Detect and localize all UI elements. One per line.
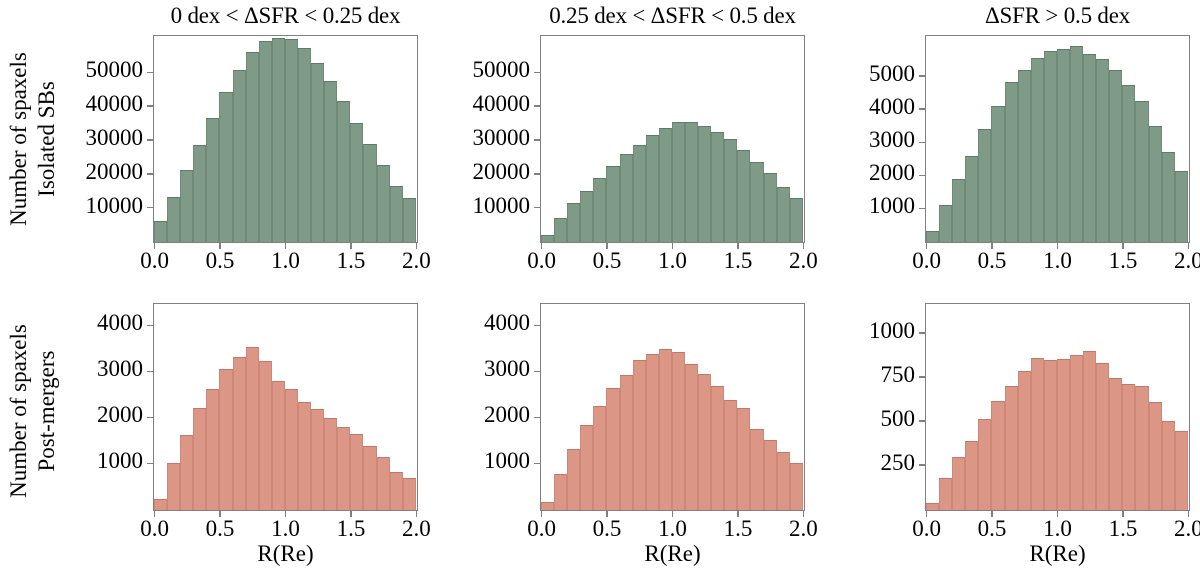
xtick-label: 0.0: [512, 516, 572, 542]
ytick-mark: [534, 72, 540, 74]
histogram-bar: [350, 123, 363, 242]
xtick-label: 0.0: [897, 516, 957, 542]
xtick-label: 1.0: [643, 248, 703, 274]
histogram-bar: [991, 401, 1004, 510]
xlabel-col3: R(Re): [925, 541, 1190, 567]
histogram-bar: [1031, 58, 1044, 242]
histogram-bar: [646, 354, 659, 510]
histogram-bar: [377, 457, 390, 510]
ytick-mark: [534, 417, 540, 419]
ytick-mark: [147, 371, 153, 373]
histogram-bar: [1044, 51, 1057, 242]
histogram-bar: [1149, 126, 1162, 242]
histogram-bar: [750, 162, 763, 242]
ytick-label: 30000: [11, 125, 143, 151]
xtick-label: 1.5: [1093, 516, 1153, 542]
histogram-bar: [685, 364, 698, 510]
ytick-label: 1000: [783, 318, 915, 344]
histogram-bars-isolated-sbs-bin1: [154, 36, 417, 242]
xtick-label: 1.0: [256, 516, 316, 542]
panel-title-col1: 0 dex < ΔSFR < 0.25 dex: [153, 3, 418, 29]
histogram-bar: [1070, 46, 1083, 242]
ytick-label: 10000: [398, 193, 530, 219]
histogram-bar: [1018, 70, 1031, 242]
histogram-bar: [606, 388, 619, 510]
histogram-bar: [1149, 402, 1162, 510]
histogram-bar: [978, 129, 991, 242]
ytick-label: 2000: [11, 402, 143, 428]
xtick-label: 2.0: [773, 516, 833, 542]
ytick-label: 20000: [11, 159, 143, 185]
xlabel-col1: R(Re): [153, 541, 418, 567]
histogram-bar: [926, 231, 939, 242]
histogram-bar: [1018, 371, 1031, 510]
ytick-label: 500: [783, 406, 915, 432]
histogram-bar: [580, 191, 593, 242]
histogram-bars-post-mergers-bin1: [154, 304, 417, 510]
histogram-bars-post-mergers-bin2: [541, 304, 804, 510]
histogram-bar: [298, 48, 311, 242]
histogram-bar: [1109, 70, 1122, 242]
histogram-bar: [554, 474, 567, 510]
histogram-bar: [646, 135, 659, 242]
xtick-label: 1.5: [321, 516, 381, 542]
panel-title-col2: 0.25 dex < ΔSFR < 0.5 dex: [540, 3, 805, 29]
histogram-bar: [965, 441, 978, 510]
histogram-bar: [541, 235, 554, 242]
histogram-bar: [567, 449, 580, 510]
ytick-mark: [147, 139, 153, 141]
xtick-label: 0.5: [577, 248, 637, 274]
ytick-mark: [534, 139, 540, 141]
ytick-label: 2000: [783, 160, 915, 186]
xtick-label: 0.0: [512, 248, 572, 274]
ytick-label: 30000: [398, 125, 530, 151]
plot-frame-post-mergers-bin3: [925, 303, 1190, 511]
histogram-bar: [311, 63, 324, 242]
histogram-bar: [403, 478, 416, 510]
histogram-bar: [672, 352, 685, 510]
ytick-mark: [147, 173, 153, 175]
histogram-bar: [324, 418, 337, 510]
ytick-label: 40000: [398, 91, 530, 117]
ytick-label: 50000: [398, 57, 530, 83]
histogram-bar: [1109, 378, 1122, 510]
histogram-bar: [659, 128, 672, 242]
histogram-bar: [1005, 82, 1018, 242]
ytick-mark: [919, 376, 925, 378]
xtick-label: 0.5: [962, 516, 1022, 542]
ytick-label: 5000: [783, 61, 915, 87]
ytick-label: 250: [783, 450, 915, 476]
histogram-bar: [965, 156, 978, 242]
histogram-bar: [952, 457, 965, 510]
histogram-bar: [154, 499, 167, 510]
histogram-bar: [926, 503, 939, 510]
ytick-label: 10000: [11, 193, 143, 219]
plot-frame-isolated-sbs-bin3: [925, 35, 1190, 243]
ytick-label: 1000: [398, 448, 530, 474]
histogram-bar: [246, 52, 259, 242]
histogram-bar: [541, 502, 554, 510]
histogram-bar: [363, 144, 376, 242]
xtick-label: 2.0: [386, 516, 446, 542]
ytick-label: 3000: [783, 127, 915, 153]
ytick-label: 4000: [398, 310, 530, 336]
histogram-bar: [1096, 59, 1109, 242]
histogram-bar: [363, 446, 376, 510]
histogram-bar: [978, 419, 991, 510]
ytick-mark: [147, 105, 153, 107]
ytick-mark: [534, 371, 540, 373]
histogram-bar: [206, 118, 219, 242]
histogram-bar: [939, 205, 952, 242]
xtick-label: 2.0: [386, 248, 446, 274]
ytick-mark: [534, 463, 540, 465]
histogram-bar: [633, 145, 646, 242]
histogram-bar: [991, 106, 1004, 242]
panel-title-col3: ΔSFR > 0.5 dex: [925, 3, 1190, 29]
histogram-bar: [698, 374, 711, 510]
histogram-bar: [1135, 386, 1148, 510]
ytick-mark: [147, 417, 153, 419]
histogram-bar: [193, 408, 206, 510]
ytick-label: 3000: [11, 356, 143, 382]
ytick-mark: [919, 108, 925, 110]
xtick-label: 1.5: [708, 516, 768, 542]
xtick-label: 0.0: [125, 248, 185, 274]
histogram-bar: [1083, 54, 1096, 242]
histogram-bar: [259, 361, 272, 510]
histogram-bar: [1031, 358, 1044, 510]
histogram-bar: [298, 402, 311, 510]
xtick-label: 1.0: [1028, 516, 1088, 542]
ytick-mark: [147, 463, 153, 465]
histogram-bar: [154, 221, 167, 242]
xtick-label: 1.5: [1093, 248, 1153, 274]
histogram-bar: [337, 427, 350, 510]
histogram-bar: [554, 218, 567, 242]
histogram-bar: [219, 369, 232, 510]
histogram-bar: [272, 38, 285, 242]
xtick-label: 0.5: [190, 248, 250, 274]
histogram-bar: [659, 349, 672, 510]
xtick-label: 1.0: [256, 248, 316, 274]
histogram-bars-isolated-sbs-bin3: [926, 36, 1189, 242]
ytick-label: 4000: [783, 94, 915, 120]
histogram-bar: [724, 400, 737, 510]
histogram-bar: [285, 39, 298, 242]
ytick-mark: [919, 420, 925, 422]
histogram-bar: [350, 434, 363, 510]
histogram-bar: [324, 81, 337, 242]
histogram-bar: [206, 389, 219, 510]
histogram-bar: [620, 154, 633, 242]
histogram-bar: [672, 122, 685, 242]
histogram-bar: [180, 170, 193, 242]
histogram-bar: [606, 166, 619, 242]
xtick-label: 0.5: [962, 248, 1022, 274]
histogram-bar: [285, 389, 298, 510]
histogram-bar: [377, 165, 390, 242]
histogram-bar: [272, 381, 285, 510]
plot-frame-post-mergers-bin1: [153, 303, 418, 511]
histogram-bars-isolated-sbs-bin2: [541, 36, 804, 242]
histogram-bar: [311, 409, 324, 510]
ytick-label: 750: [783, 362, 915, 388]
histogram-bar: [1070, 355, 1083, 510]
histogram-bar: [724, 139, 737, 242]
histogram-bar: [1175, 171, 1188, 242]
histogram-bar: [246, 347, 259, 510]
histogram-bar: [685, 122, 698, 242]
ytick-mark: [534, 173, 540, 175]
ytick-label: 3000: [398, 356, 530, 382]
ytick-label: 1000: [783, 193, 915, 219]
histogram-bar: [952, 179, 965, 242]
histogram-bar: [193, 145, 206, 242]
plot-frame-isolated-sbs-bin2: [540, 35, 805, 243]
xtick-label: 1.0: [1028, 248, 1088, 274]
histogram-bar: [593, 178, 606, 242]
ytick-mark: [147, 72, 153, 74]
xtick-label: 2.0: [1158, 516, 1200, 542]
histogram-bar: [764, 173, 777, 242]
ytick-mark: [919, 332, 925, 334]
ytick-mark: [534, 105, 540, 107]
histogram-bar: [233, 70, 246, 242]
histogram-bar: [939, 478, 952, 510]
histogram-bar: [337, 101, 350, 242]
histogram-bar: [750, 429, 763, 510]
ytick-mark: [919, 175, 925, 177]
plot-frame-post-mergers-bin2: [540, 303, 805, 511]
histogram-bar: [737, 408, 750, 510]
ytick-label: 40000: [11, 91, 143, 117]
histogram-bar: [167, 463, 180, 510]
ytick-mark: [534, 207, 540, 209]
ytick-label: 2000: [398, 402, 530, 428]
histogram-bar: [1122, 85, 1135, 242]
xtick-label: 0.5: [577, 516, 637, 542]
histogram-bar: [1096, 363, 1109, 510]
histogram-bar: [1057, 359, 1070, 510]
xtick-label: 1.0: [643, 516, 703, 542]
xlabel-col2: R(Re): [540, 541, 805, 567]
figure-root: 0 dex < ΔSFR < 0.25 dex 0.25 dex < ΔSFR …: [0, 0, 1200, 580]
ytick-mark: [534, 325, 540, 327]
histogram-bar: [180, 435, 193, 510]
histogram-bar: [711, 132, 724, 243]
ytick-label: 4000: [11, 310, 143, 336]
histogram-bar: [167, 197, 180, 242]
xtick-label: 0.0: [897, 248, 957, 274]
ytick-mark: [919, 75, 925, 77]
histogram-bar: [1044, 360, 1057, 510]
histogram-bar: [1175, 431, 1188, 510]
xtick-label: 2.0: [773, 248, 833, 274]
histogram-bar: [1162, 152, 1175, 243]
xtick-label: 1.5: [321, 248, 381, 274]
histogram-bar: [233, 357, 246, 510]
histogram-bar: [1122, 384, 1135, 510]
xtick-label: 0.5: [190, 516, 250, 542]
histogram-bar: [1162, 421, 1175, 510]
ytick-label: 1000: [11, 448, 143, 474]
histogram-bar: [1135, 101, 1148, 242]
histogram-bar: [633, 360, 646, 510]
ytick-label: 50000: [11, 57, 143, 83]
histogram-bars-post-mergers-bin3: [926, 304, 1189, 510]
histogram-bar: [1083, 351, 1096, 510]
ytick-mark: [147, 325, 153, 327]
histogram-bar: [1057, 49, 1070, 242]
histogram-bar: [737, 150, 750, 242]
histogram-bar: [390, 472, 403, 510]
histogram-bar: [580, 425, 593, 510]
xtick-label: 0.0: [125, 516, 185, 542]
histogram-bar: [620, 375, 633, 510]
histogram-bar: [219, 92, 232, 242]
histogram-bar: [567, 203, 580, 242]
ytick-mark: [919, 142, 925, 144]
ytick-mark: [147, 207, 153, 209]
histogram-bar: [698, 126, 711, 242]
histogram-bar: [259, 41, 272, 242]
histogram-bar: [764, 440, 777, 510]
histogram-bar: [1005, 386, 1018, 510]
xtick-label: 1.5: [708, 248, 768, 274]
xtick-label: 2.0: [1158, 248, 1200, 274]
plot-frame-isolated-sbs-bin1: [153, 35, 418, 243]
histogram-bar: [711, 386, 724, 510]
ytick-mark: [919, 208, 925, 210]
ytick-label: 20000: [398, 159, 530, 185]
histogram-bar: [593, 406, 606, 510]
ytick-mark: [919, 464, 925, 466]
